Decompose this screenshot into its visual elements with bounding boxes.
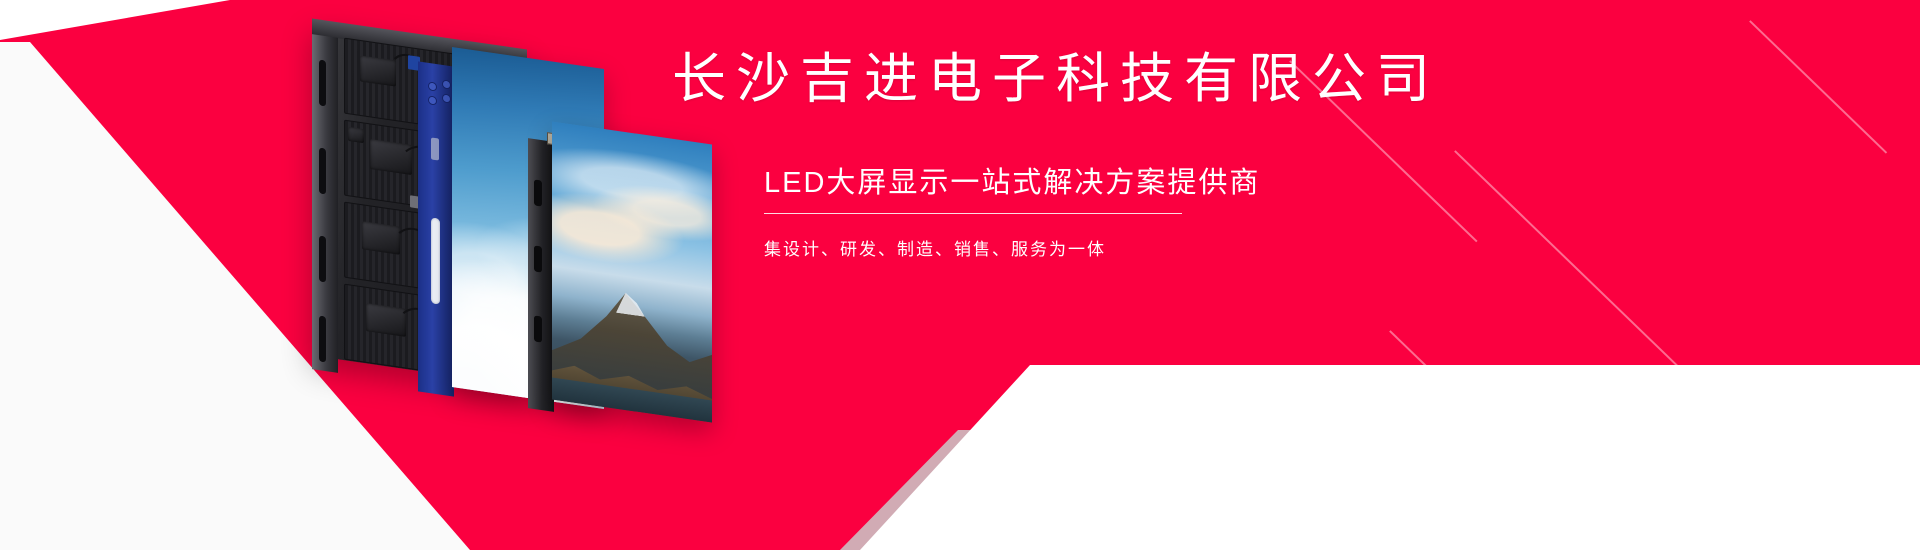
frame-slot [534,179,542,206]
wedge-top-left [0,0,230,40]
cabinet-slot [319,315,326,362]
cabinet-slot [319,59,326,106]
banner-text-block: 长沙吉进电子科技有限公司 LED大屏显示一站式解决方案提供商 集设计、研发、制造… [672,52,1492,260]
led-panel-sky-handle [431,217,440,304]
cabinet-fitting [348,127,364,143]
company-title: 长沙吉进电子科技有限公司 [672,52,1492,106]
light-streak-4 [1749,20,1887,153]
banner-tagline: 集设计、研发、制造、销售、服务为一体 [672,235,1090,260]
wedge-bottom-right [860,365,1920,550]
frame-screw [442,79,451,89]
subtitle-divider [764,213,1182,214]
led-panel-sky-latch [431,137,439,160]
frame-screw [428,95,437,105]
frame-screw [442,93,451,103]
led-panel-mountain-frame [528,138,554,412]
hero-banner: 长沙吉进电子科技有限公司 LED大屏显示一站式解决方案提供商 集设计、研发、制造… [0,0,1920,550]
frame-slot [534,315,542,342]
subtitle-row: LED大屏显示一站式解决方案提供商 [672,168,1492,214]
frame-slot [534,245,542,272]
banner-subtitle: LED大屏显示一站式解决方案提供商 [764,168,1492,200]
cabinet-slot [319,235,326,282]
cabinet-slot [319,147,326,194]
frame-screw [428,81,437,91]
